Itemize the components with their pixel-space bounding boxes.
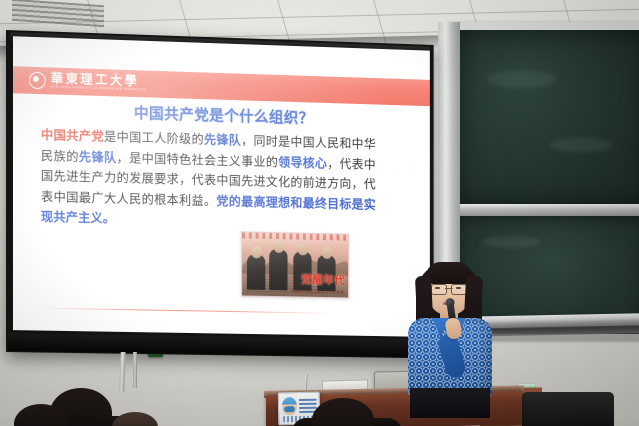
blackboard-divider-rail [448, 204, 639, 216]
slide-body-run: 先锋队 [204, 132, 241, 148]
classroom-photo-scene: 華東理工大學 EAST CHINA UNIVERSITY OF SCIENCE … [0, 0, 639, 426]
projected-slide-area: 華東理工大學 EAST CHINA UNIVERSITY OF SCIENCE … [13, 36, 430, 337]
university-name-en: EAST CHINA UNIVERSITY OF SCIENCE AND TEC… [51, 87, 146, 93]
slide-body-run: 先锋队 [79, 149, 117, 165]
poster-subtitle: 中国共产党成立前后的历史画卷 [291, 288, 345, 294]
slide-body-run: ，是中国特色社会主义事业的 [117, 150, 279, 169]
poster-title: 觉醒年代 [301, 271, 345, 288]
slide-body-run: 领导核心 [278, 154, 327, 170]
university-seal-icon [29, 72, 46, 90]
slide-body-run: 是中国工人阶级的 [104, 129, 204, 147]
slide-body-run: 中国共产党 [41, 127, 104, 144]
chair [522, 392, 614, 426]
screen-support-post [133, 352, 137, 388]
slide-body-text: 中国共产党是中国工人阶级的先锋队，同时是中国人民和中华民族的先锋队，是中国特色社… [41, 125, 376, 235]
presenter [396, 258, 508, 403]
blackboard-surface-upper [457, 30, 639, 206]
slide-footer-rule [39, 307, 332, 314]
glasses-icon [431, 284, 467, 293]
poster-sky-banner [242, 232, 348, 240]
presenter-lower-body [410, 388, 490, 418]
university-logo: 華東理工大學 EAST CHINA UNIVERSITY OF SCIENCE … [29, 72, 146, 93]
presentation-slide: 華東理工大學 EAST CHINA UNIVERSITY OF SCIENCE … [13, 36, 430, 337]
projection-screen: 華東理工大學 EAST CHINA UNIVERSITY OF SCIENCE … [6, 30, 434, 358]
masked-character-icon [282, 397, 297, 415]
poster-image: 觉醒年代 中国共产党成立前后的历史画卷 [241, 231, 349, 298]
